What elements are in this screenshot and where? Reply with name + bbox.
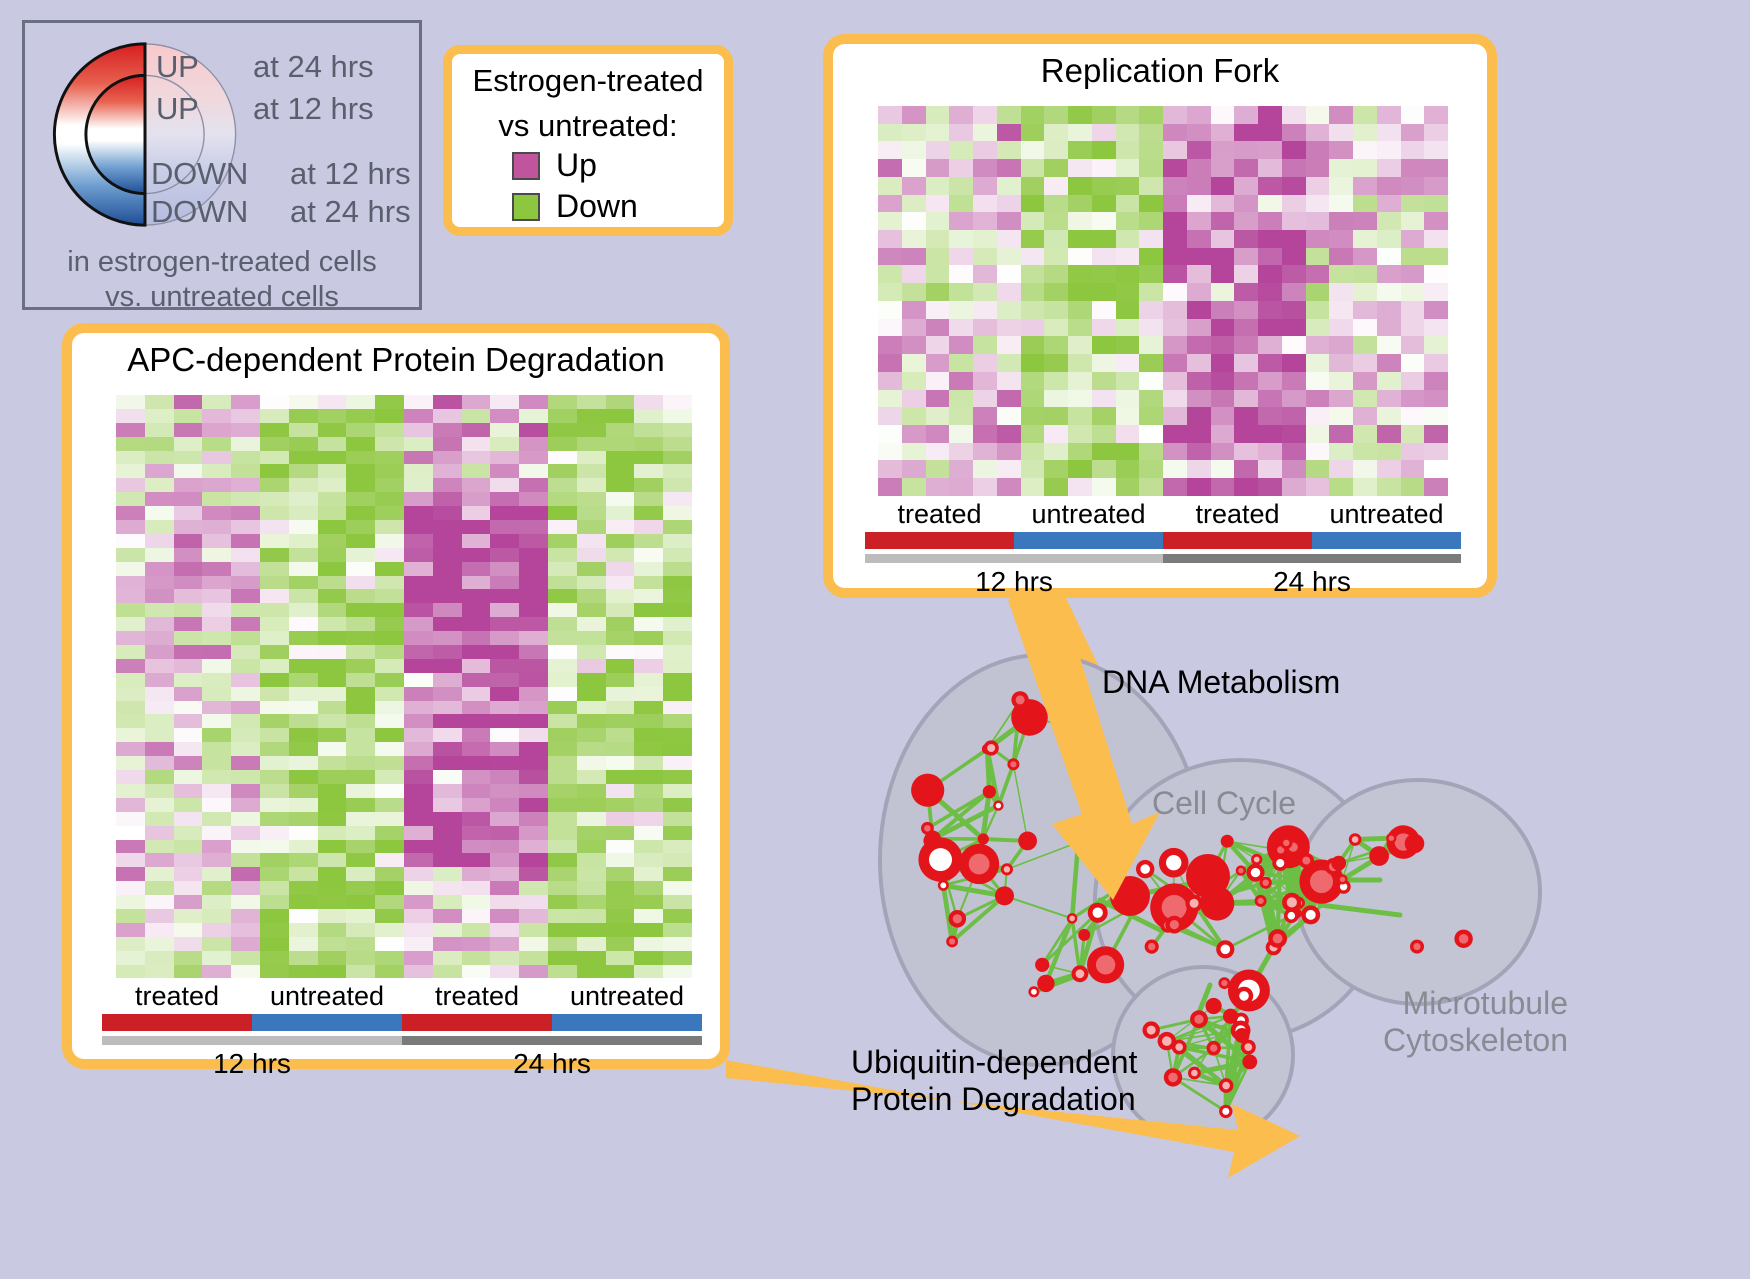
heatmap-cell: [1306, 177, 1330, 195]
heatmap-cell: [1306, 460, 1330, 478]
heatmap-cell: [902, 212, 926, 230]
heatmap-row: [878, 336, 1448, 354]
heatmap-cell: [1044, 141, 1068, 159]
network-edge: [1280, 863, 1311, 915]
network-edge: [1355, 840, 1379, 857]
heatmap-cell: [926, 425, 950, 443]
heatmap-cell: [231, 603, 260, 617]
heatmap-cell: [1234, 372, 1258, 390]
network-edge: [1311, 887, 1344, 915]
heatmap-cell: [375, 881, 404, 895]
heatmap-cell: [878, 106, 902, 124]
network-edge: [1167, 1041, 1179, 1047]
heatmap-cell: [1353, 443, 1377, 461]
network-edge: [1072, 888, 1119, 918]
heatmap-cell: [1187, 301, 1211, 319]
network-edge: [1286, 843, 1333, 867]
heatmap-cell: [433, 645, 462, 659]
heatmap-cell: [202, 520, 231, 534]
heatmap-cell: [548, 853, 577, 867]
heatmap-cell: [1021, 443, 1045, 461]
heatmap-cell: [973, 177, 997, 195]
heatmap-cell: [231, 423, 260, 437]
network-node-ring: [1028, 986, 1039, 997]
network-edge: [1013, 717, 1029, 764]
heatmap-cell: [1044, 248, 1068, 266]
heatmap-cell: [1329, 195, 1353, 213]
heatmap-cell: [346, 520, 375, 534]
heatmap-cell: [375, 937, 404, 951]
legend-up-24-label: UP: [156, 49, 198, 85]
heatmap-cell: [1021, 372, 1045, 390]
heatmap-cell: [997, 159, 1021, 177]
heatmap-cell: [433, 756, 462, 770]
heatmap-cell: [634, 728, 663, 742]
heatmap-cell: [548, 617, 577, 631]
network-edge: [1391, 838, 1403, 842]
network-edge: [1214, 1021, 1241, 1049]
heatmap-cell: [926, 354, 950, 372]
heatmap-cell: [1353, 319, 1377, 337]
heatmap-cell: [145, 478, 174, 492]
network-node: [1302, 857, 1310, 865]
heatmap-cell: [1424, 354, 1448, 372]
heatmap-cell: [346, 659, 375, 673]
heatmap-cell: [1211, 425, 1235, 443]
network-node: [1242, 1055, 1257, 1070]
heatmap-cell: [926, 407, 950, 425]
heatmap-row: [878, 319, 1448, 337]
heatmap-cell: [973, 141, 997, 159]
heatmap-cell: [878, 177, 902, 195]
network-edge: [1226, 1062, 1250, 1112]
heatmap-cell: [318, 520, 347, 534]
network-edge: [1261, 861, 1307, 901]
network-edge: [931, 841, 944, 886]
heatmap-cell: [174, 881, 203, 895]
heatmap-cell: [289, 506, 318, 520]
heatmap-cell: [1306, 141, 1330, 159]
heatmap-cell: [1258, 460, 1282, 478]
heatmap-row: [116, 617, 692, 631]
heatmap-cell: [634, 617, 663, 631]
heatmap-cell: [375, 506, 404, 520]
network-edge: [1179, 1047, 1250, 1062]
heatmap-cell: [606, 812, 635, 826]
heatmap-cell: [548, 812, 577, 826]
heatmap-cell: [231, 714, 260, 728]
heatmap-cell: [318, 659, 347, 673]
network-edge: [1256, 843, 1287, 873]
network-node: [1277, 846, 1284, 853]
heatmap-cell: [145, 437, 174, 451]
heatmap-cell: [1139, 319, 1163, 337]
heatmap-cell: [231, 659, 260, 673]
network-node: [1389, 836, 1394, 841]
heatmap-cell: [289, 965, 318, 979]
heatmap-cell: [433, 881, 462, 895]
heatmap-cell: [116, 909, 145, 923]
network-bridge-edge: [1230, 990, 1250, 1020]
heatmap-cell: [878, 230, 902, 248]
heatmap-cell: [346, 451, 375, 465]
heatmap-cell: [289, 673, 318, 687]
heatmap-cell: [462, 826, 491, 840]
heatmap-cell: [1211, 478, 1235, 496]
network-edge: [1261, 901, 1299, 903]
heatmap-cell: [260, 714, 289, 728]
heatmap-cell: [231, 645, 260, 659]
heatmap-cell: [634, 478, 663, 492]
heatmap-cell: [1211, 195, 1235, 213]
network-edge: [1281, 850, 1334, 867]
heatmap-cell: [404, 909, 433, 923]
network-node: [1148, 943, 1155, 950]
heatmap-cell: [1163, 354, 1187, 372]
network-node-ring: [1001, 863, 1013, 875]
heatmap-cell: [577, 548, 606, 562]
heatmap-cell: [145, 798, 174, 812]
heatmap-cell: [1306, 248, 1330, 266]
heatmap-cell: [404, 742, 433, 756]
heatmap-cell: [260, 909, 289, 923]
heatmap-cell: [375, 492, 404, 506]
heatmap-cell: [116, 965, 145, 979]
heatmap-cell: [663, 826, 692, 840]
legend-up-12-time: at 12 hrs: [253, 91, 374, 127]
heatmap-cell: [634, 423, 663, 437]
heatmap-cell: [997, 319, 1021, 337]
heatmap-cell: [346, 645, 375, 659]
heatmap-cell: [1068, 460, 1092, 478]
heatmap-cell: [404, 867, 433, 881]
heatmap-cell: [404, 798, 433, 812]
heatmap-cell: [548, 451, 577, 465]
heatmap-cell: [973, 195, 997, 213]
network-node: [1194, 1015, 1203, 1024]
heatmap-cell: [577, 826, 606, 840]
heatmap-cell: [346, 714, 375, 728]
heatmap-cell: [1353, 177, 1377, 195]
network-node: [969, 854, 990, 875]
heatmap-cell: [997, 283, 1021, 301]
network-edge: [991, 748, 1013, 764]
network-edge: [1226, 1062, 1250, 1086]
heatmap-cell: [231, 478, 260, 492]
heatmap-cell: [145, 784, 174, 798]
figure-canvas: UP at 24 hrs UP at 12 hrs DOWN at 12 hrs…: [0, 0, 1750, 1279]
heatmap-cell: [1092, 301, 1116, 319]
heatmap-cell: [1187, 390, 1211, 408]
heatmap-cell: [433, 562, 462, 576]
heatmap-cell: [606, 673, 635, 687]
heatmap-cell: [1424, 372, 1448, 390]
heatmap-cell: [1329, 301, 1353, 319]
heatmap-cell: [1306, 106, 1330, 124]
network-edge: [1214, 1047, 1249, 1048]
network-edge: [1291, 913, 1296, 915]
heatmap-cell: [318, 562, 347, 576]
heatmap-cell: [1329, 265, 1353, 283]
network-edge: [1173, 1048, 1214, 1077]
heatmap-cell: [1424, 336, 1448, 354]
heatmap-cell: [1234, 265, 1258, 283]
network-node-ring: [1293, 897, 1305, 909]
heatmap-cell: [1021, 301, 1045, 319]
heatmap-row: [116, 840, 692, 854]
heatmap-cell: [949, 212, 973, 230]
network-edge: [1280, 850, 1281, 863]
heatmap-cell: [260, 895, 289, 909]
heatmap-cell: [260, 631, 289, 645]
network-edge: [1256, 873, 1322, 882]
heatmap-row: [116, 826, 692, 840]
heatmap-cell: [1329, 372, 1353, 390]
heatmap-cell: [926, 372, 950, 390]
heatmap-cell: [663, 395, 692, 409]
heatmap-cell: [902, 195, 926, 213]
heatmap-cell: [404, 812, 433, 826]
heatmap-cell: [1021, 319, 1045, 337]
heatmap-cell: [1282, 336, 1306, 354]
heatmap-cell: [490, 659, 519, 673]
heatmap-cell: [1068, 443, 1092, 461]
heatmap-cell: [289, 812, 318, 826]
network-edge: [1257, 860, 1299, 903]
network-node-ring: [1158, 1032, 1176, 1050]
heatmap-cell: [145, 937, 174, 951]
heatmap-cell: [902, 265, 926, 283]
heatmap-row: [116, 742, 692, 756]
heatmap-cell: [1187, 230, 1211, 248]
heatmap-cell: [1092, 407, 1116, 425]
network-edge: [1293, 847, 1299, 903]
heatmap-cell: [346, 534, 375, 548]
heatmap-cell: [1187, 248, 1211, 266]
heatmap-cell: [1282, 248, 1306, 266]
network-edge: [1266, 882, 1322, 883]
heatmap-cell: [973, 283, 997, 301]
heatmap-cell: [404, 409, 433, 423]
heatmap-cell: [1044, 106, 1068, 124]
heatmap-cell: [1163, 230, 1187, 248]
heatmap-cell: [202, 728, 231, 742]
heatmap-cell: [1021, 460, 1045, 478]
heatmap-cell: [1068, 407, 1092, 425]
heatmap-cell: [375, 562, 404, 576]
heatmap-cell: [433, 909, 462, 923]
heatmap-cell: [926, 301, 950, 319]
heatmap-cell: [1068, 159, 1092, 177]
heatmap-cell: [462, 673, 491, 687]
heatmap-cell: [878, 407, 902, 425]
heatmap-cell: [1187, 283, 1211, 301]
heatmap-cell: [634, 645, 663, 659]
network-edge: [1266, 883, 1297, 914]
network-node: [1175, 1043, 1183, 1051]
network-edge: [1299, 887, 1344, 903]
heatmap-cell: [1211, 407, 1235, 425]
network-node: [1405, 834, 1425, 854]
heatmap-row: [116, 853, 692, 867]
heatmap-cell: [1068, 195, 1092, 213]
heatmap-cell: [1021, 407, 1045, 425]
heatmap-cell: [260, 492, 289, 506]
heatmap-cell: [346, 756, 375, 770]
heatmap-cell: [116, 826, 145, 840]
heatmap-cell: [490, 937, 519, 951]
network-node-ring: [1113, 881, 1127, 895]
heatmap-cell: [202, 867, 231, 881]
heatmap-cell: [606, 701, 635, 715]
heatmap-cell: [1258, 372, 1282, 390]
heatmap-row: [878, 248, 1448, 266]
heatmap-cell: [1021, 230, 1045, 248]
heatmap-cell: [577, 451, 606, 465]
heatmap-cell: [116, 631, 145, 645]
heatmap-cell: [1234, 336, 1258, 354]
heatmap-row: [116, 506, 692, 520]
heatmap-cell: [1258, 124, 1282, 142]
heatmap-cell: [318, 840, 347, 854]
heatmap-cell: [1187, 141, 1211, 159]
network-edge: [1286, 843, 1310, 915]
heatmap-cell: [174, 687, 203, 701]
heatmap-cell: [1234, 283, 1258, 301]
heatmap-cell: [634, 881, 663, 895]
heatmap-row: [878, 283, 1448, 301]
heatmap-cell: [404, 506, 433, 520]
network-edge: [1072, 918, 1080, 973]
heatmap-cell: [145, 728, 174, 742]
heatmap-row: [116, 965, 692, 979]
heatmap-cell: [1021, 425, 1045, 443]
heatmap-cell: [1044, 195, 1068, 213]
group-label-treated-24: treated: [1163, 499, 1312, 530]
heatmap-cell: [548, 881, 577, 895]
heatmap-cell: [634, 923, 663, 937]
network-node: [1258, 898, 1264, 904]
heatmap-cell: [231, 451, 260, 465]
up-down-color-legend: Estrogen-treated vs untreated: Up Down: [443, 45, 733, 236]
network-edge: [1007, 841, 1028, 869]
heatmap-cell: [1258, 390, 1282, 408]
network-edge: [1199, 1019, 1242, 1035]
heatmap-cell: [346, 437, 375, 451]
heatmap-cell: [145, 506, 174, 520]
heatmap-cell: [260, 923, 289, 937]
heatmap-cell: [902, 425, 926, 443]
heatmap-cell: [116, 812, 145, 826]
network-edge: [1391, 838, 1414, 843]
heatmap-cell: [606, 478, 635, 492]
network-edge: [1042, 918, 1072, 964]
heatmap-cell: [1187, 354, 1211, 372]
heatmap-cell: [634, 687, 663, 701]
network-edge: [1217, 863, 1280, 903]
heatmap-cell: [404, 937, 433, 951]
network-edge: [1007, 842, 1078, 869]
heatmap-cell: [577, 756, 606, 770]
network-node-ring: [1231, 1021, 1251, 1041]
heatmap-row: [878, 124, 1448, 142]
network-edge: [1199, 1016, 1231, 1019]
heatmap-cell: [462, 395, 491, 409]
network-edge: [1241, 1030, 1249, 1047]
updown-heading-line2: vs untreated:: [452, 109, 724, 144]
heatmap-cell: [634, 492, 663, 506]
heatmap-cell: [404, 756, 433, 770]
heatmap-cell: [1163, 425, 1187, 443]
heatmap-cell: [116, 853, 145, 867]
heatmap-cell: [548, 784, 577, 798]
heatmap-cell: [1068, 124, 1092, 142]
heatmap-cell: [1329, 478, 1353, 496]
heatmap-cell: [1211, 159, 1235, 177]
heatmap-cell: [462, 478, 491, 492]
heatmap-cell: [997, 460, 1021, 478]
heatmap-cell: [202, 673, 231, 687]
heatmap-cell: [318, 895, 347, 909]
heatmap-cell: [433, 798, 462, 812]
heatmap-cell: [231, 562, 260, 576]
heatmap-cell: [231, 756, 260, 770]
heatmap-cell: [1187, 478, 1211, 496]
heatmap-cell: [375, 714, 404, 728]
heatmap-cell: [577, 840, 606, 854]
heatmap-cell: [404, 687, 433, 701]
network-edge: [1194, 1016, 1230, 1073]
ubiquitin-label-line1: Ubiquitin-dependent: [851, 1044, 1137, 1081]
heatmap-cell: [202, 826, 231, 840]
network-node: [1340, 877, 1345, 882]
heatmap-cell: [462, 951, 491, 965]
heatmap-cell: [949, 141, 973, 159]
heatmap-cell: [145, 867, 174, 881]
network-edge: [1227, 841, 1280, 863]
network-edge: [1227, 841, 1257, 859]
network-node-ring: [1072, 965, 1089, 982]
heatmap-cell: [878, 319, 902, 337]
heatmap-row: [116, 562, 692, 576]
heatmap-cell: [1234, 319, 1258, 337]
heatmap-cell: [346, 881, 375, 895]
heatmap-cell: [289, 687, 318, 701]
heatmap-cell: [375, 812, 404, 826]
heatmap-cell: [116, 478, 145, 492]
heatmap-cell: [1211, 460, 1235, 478]
heatmap-cell: [606, 881, 635, 895]
network-edge: [1280, 863, 1299, 903]
heatmap-cell: [375, 631, 404, 645]
network-node-ring: [1219, 1078, 1234, 1093]
heatmap-cell: [926, 319, 950, 337]
heatmap-cell: [663, 506, 692, 520]
heatmap-cell: [973, 390, 997, 408]
heatmap-cell: [1353, 407, 1377, 425]
heatmap-cell: [1234, 106, 1258, 124]
network-edge: [1278, 902, 1292, 938]
network-node-ring: [1219, 1105, 1232, 1118]
network-edge: [1297, 903, 1299, 914]
heatmap-cell: [346, 895, 375, 909]
network-edge: [1256, 873, 1278, 939]
heatmap-cell: [1424, 106, 1448, 124]
heatmap-cell: [174, 923, 203, 937]
heatmap-cell: [462, 714, 491, 728]
heatmap-cell: [606, 603, 635, 617]
apc-bar-treated-12: [102, 1014, 252, 1031]
